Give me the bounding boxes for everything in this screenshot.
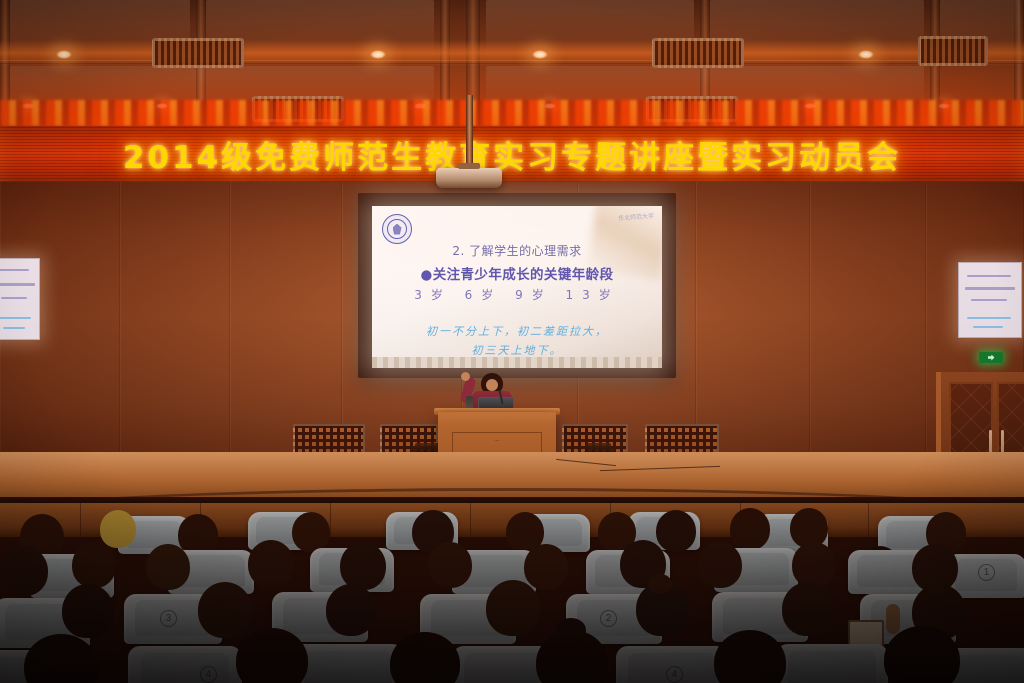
projector <box>436 168 502 188</box>
slide-handwriting-line2: 初三天上地下。 <box>372 342 662 358</box>
audience-head <box>428 542 472 588</box>
ceiling-downlight <box>532 50 548 59</box>
audience-head <box>62 584 114 638</box>
audience-head <box>198 582 252 638</box>
right-side-monitor <box>958 262 1022 338</box>
ceiling-air-vent <box>152 38 244 68</box>
ceiling <box>0 0 1024 126</box>
audience-head <box>326 584 376 636</box>
audience-head <box>72 542 116 588</box>
audience-hair-bun <box>556 618 586 642</box>
university-seal-icon <box>382 214 412 244</box>
audience-head <box>782 582 834 636</box>
projection-screen: 东北师范大学 2. 了解学生的心理需求 ●关注青少年成长的关键年龄段 3岁 6岁… <box>372 206 662 368</box>
audience-head <box>524 544 568 590</box>
banner-text: 2014级免费师范生教育实习专题讲座暨实习动员会 <box>123 132 901 177</box>
slide-title: 2. 了解学生的心理需求 <box>372 242 662 259</box>
audience-head <box>698 542 742 588</box>
speaker-hand <box>461 372 470 381</box>
ceiling-downlight <box>858 50 874 59</box>
audience-tablet <box>848 620 884 647</box>
audience-hair-bun <box>648 574 672 594</box>
audience-head <box>100 510 136 548</box>
led-banner: 2014级免费师范生教育实习专题讲座暨实习动员会 <box>0 126 1024 182</box>
seat[interactable] <box>292 644 404 683</box>
audience-head <box>792 542 836 588</box>
audience-head <box>292 512 330 552</box>
slide-handwriting-line1: 初一不分上下，初二差距拉大， <box>372 323 662 339</box>
audience-head <box>486 580 540 636</box>
ceiling-air-vent <box>918 36 988 66</box>
seat[interactable] <box>128 646 242 683</box>
audience-head <box>656 510 696 552</box>
projector-mount-rod <box>466 95 473 170</box>
speaker-face <box>486 379 498 391</box>
audience-head <box>0 546 48 596</box>
seat-number: 3 <box>160 610 177 627</box>
audience-seating: 1 3 2 <box>0 498 1024 683</box>
left-side-monitor <box>0 258 40 340</box>
seat-number: 2 <box>600 610 617 627</box>
ceiling-downlight <box>370 50 386 59</box>
audience-head <box>340 542 386 590</box>
exit-sign-icon <box>979 352 1003 363</box>
seat-number: 4 <box>200 666 217 683</box>
audience-hand <box>886 604 900 634</box>
projection-screen-frame: 东北师范大学 2. 了解学生的心理需求 ●关注青少年成长的关键年龄段 3岁 6岁… <box>358 193 676 378</box>
screen-lower-edge <box>372 357 662 368</box>
audience-head <box>248 540 294 588</box>
ceiling-downlight <box>56 50 72 59</box>
auditorium-photo: 2014级免费师范生教育实习专题讲座暨实习动员会 东北师范大学 2. 了解学生的… <box>0 0 1024 683</box>
audience-head <box>146 544 190 590</box>
audience-head <box>730 508 770 550</box>
slide-bullet: ●关注青少年成长的关键年龄段 <box>372 263 662 283</box>
seat[interactable] <box>776 644 888 683</box>
slide-ages: 3岁 6岁 9岁 13岁 <box>372 286 662 303</box>
seat-number: 1 <box>978 564 995 581</box>
ceiling-air-vent <box>652 38 744 68</box>
seat-number: 4 <box>666 666 683 683</box>
